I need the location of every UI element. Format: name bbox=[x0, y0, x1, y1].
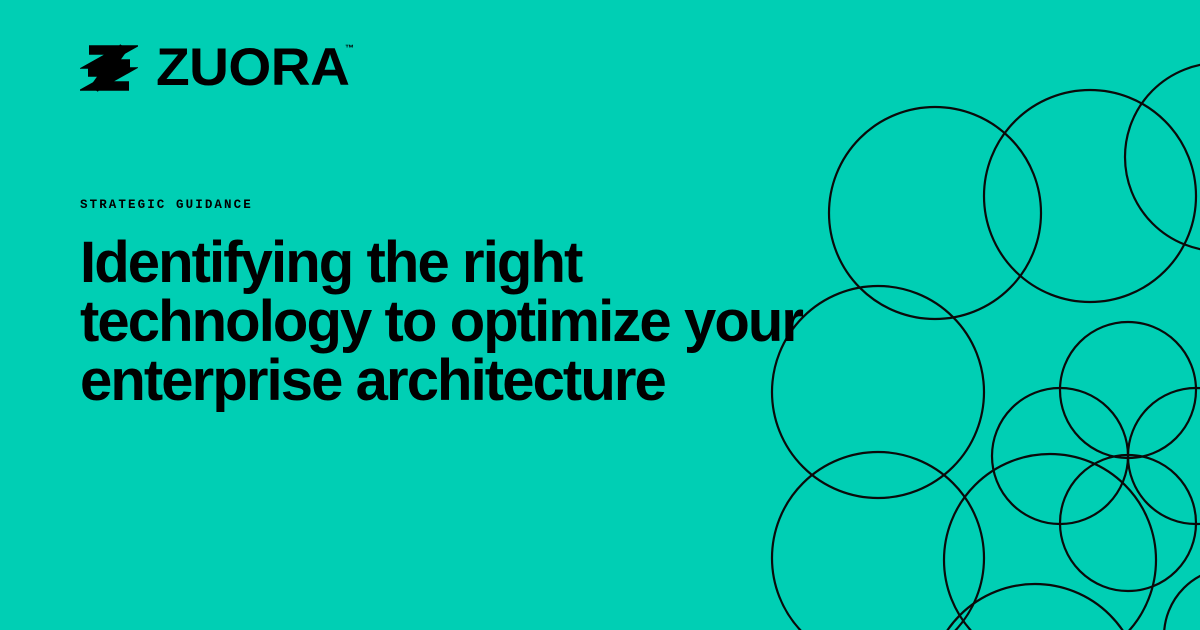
zuora-z-mark-icon bbox=[80, 42, 138, 94]
zuora-logo-lockup[interactable]: ZUORA ™ bbox=[80, 41, 354, 94]
decor-circle bbox=[1128, 388, 1200, 524]
decor-circle bbox=[1060, 455, 1196, 591]
decor-circle bbox=[929, 584, 1141, 630]
decor-circle bbox=[1164, 568, 1200, 630]
zuora-wordmark: ZUORA bbox=[156, 41, 349, 94]
social-card-canvas: ZUORA ™ STRATEGIC GUIDANCE Identifying t… bbox=[0, 0, 1200, 630]
zuora-wordmark-wrap: ZUORA ™ bbox=[156, 41, 354, 94]
decor-circle bbox=[944, 454, 1156, 630]
eyebrow-label: STRATEGIC GUIDANCE bbox=[80, 198, 840, 212]
decor-circle bbox=[1060, 322, 1196, 458]
decor-circle bbox=[829, 107, 1041, 319]
decor-circle bbox=[772, 452, 984, 630]
decor-circle bbox=[984, 90, 1196, 302]
page-title: Identifying the right technology to opti… bbox=[80, 233, 840, 410]
decor-circle bbox=[1125, 63, 1200, 251]
copy-block: STRATEGIC GUIDANCE Identifying the right… bbox=[80, 198, 840, 410]
decor-circle bbox=[992, 388, 1128, 524]
